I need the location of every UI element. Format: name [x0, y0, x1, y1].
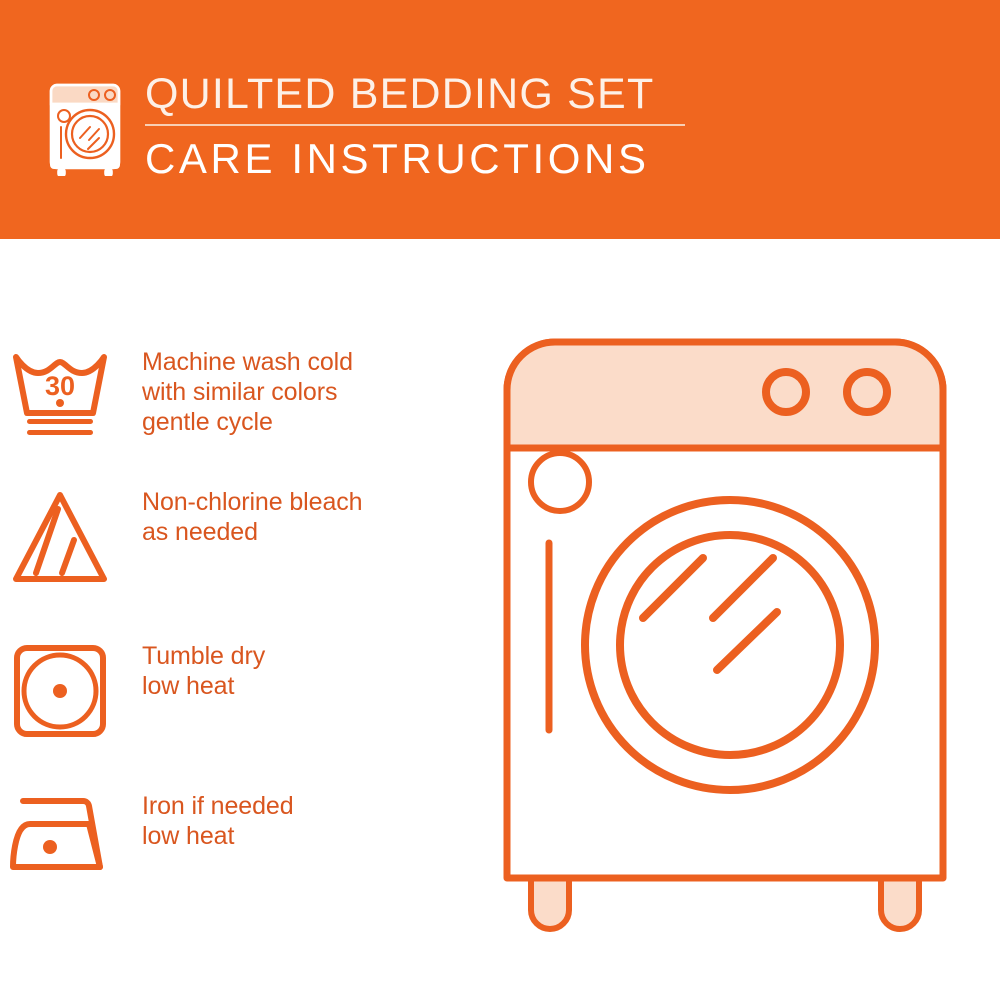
machine-wash-basin-icon: 30: [0, 347, 120, 439]
care-label-bleach: Non-chlorine bleach as needed: [142, 487, 362, 547]
header-band: QUILTED BEDDING SET CARE INSTRUCTIONS: [0, 0, 1000, 239]
washing-machine-icon: [46, 72, 132, 176]
page-title: QUILTED BEDDING SET: [145, 68, 705, 120]
knob-left: [766, 372, 806, 412]
care-row-bleach: Non-chlorine bleach as needed: [0, 487, 480, 587]
care-instructions-page: QUILTED BEDDING SET CARE INSTRUCTIONS 30: [0, 0, 1000, 1000]
care-row-iron: Iron if needed low heat: [0, 791, 480, 877]
large-washing-machine-illustration: [495, 330, 975, 945]
care-label-iron: Iron if needed low heat: [142, 791, 294, 851]
care-row-tumble-dry: Tumble dry low heat: [0, 641, 480, 741]
iron-icon: [0, 791, 120, 877]
care-instructions-list: 30 Machine wash cold with similar colors…: [0, 239, 480, 1000]
care-label-machine-wash: Machine wash cold with similar colors ge…: [142, 347, 353, 437]
care-label-tumble-dry: Tumble dry low heat: [142, 641, 265, 701]
care-row-machine-wash: 30 Machine wash cold with similar colors…: [0, 347, 480, 439]
tumble-dry-icon: [0, 641, 120, 741]
page-subtitle: CARE INSTRUCTIONS: [145, 134, 705, 184]
non-chlorine-bleach-triangle-icon: [0, 487, 120, 587]
title-divider: [145, 124, 685, 126]
knob-right: [847, 372, 887, 412]
header-text-block: QUILTED BEDDING SET CARE INSTRUCTIONS: [145, 68, 705, 184]
wash-temperature-value: 30: [45, 371, 75, 401]
